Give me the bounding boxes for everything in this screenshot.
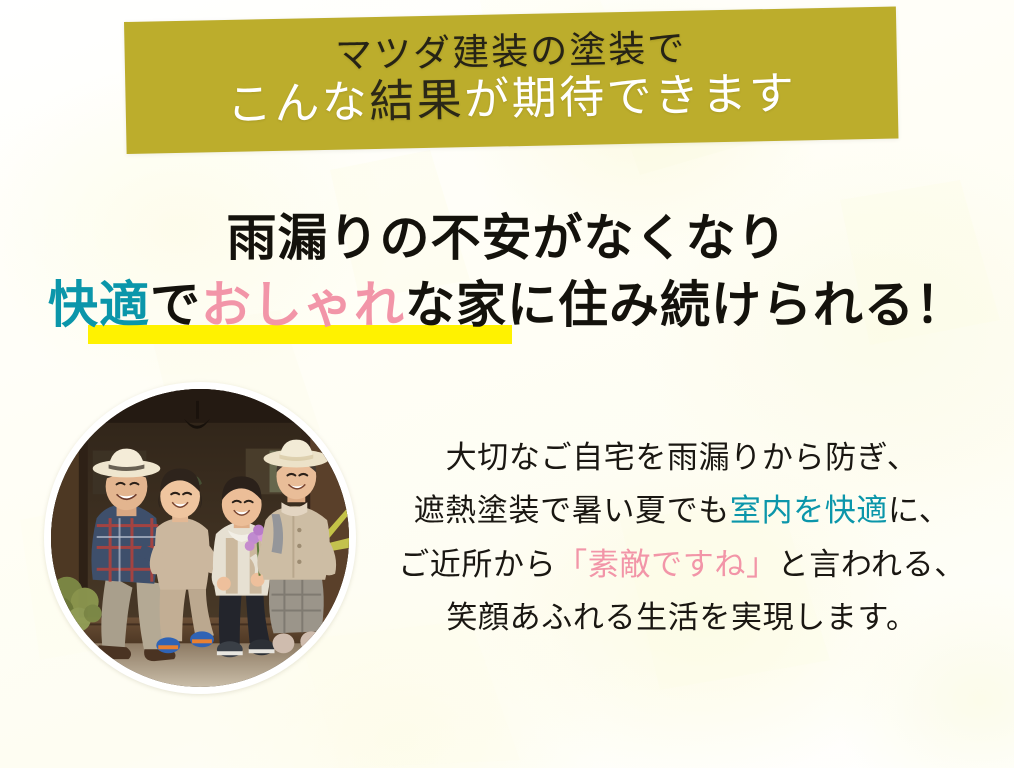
headline-line-1: 雨漏りの不安がなくなり: [0, 208, 1014, 269]
headline-line-2: 快適でおしゃれな家に住み続けられる！: [48, 275, 966, 336]
ribbon-line-2-emphasis: 結果: [369, 74, 465, 129]
photo-frame: [44, 382, 356, 694]
header-ribbon-text: マツダ建装の塗装で こんな結果が期待できます: [124, 5, 898, 152]
family-porch-illustration: [51, 389, 349, 687]
ribbon-line-2-part-a: こんな: [226, 75, 369, 131]
headline-line-2-joiner: で: [150, 276, 201, 334]
body-copy-line-4: 笑顔あふれる生活を実現します。: [386, 592, 978, 645]
body-copy: 大切なご自宅を雨漏りから防ぎ、 遮熱塗装で暑い夏でも室内を快適に、 ご近所から「…: [386, 432, 978, 645]
ribbon-line-2: こんな結果が期待できます: [226, 71, 797, 129]
body-copy-accent-quote: 「素敵ですね」: [556, 547, 777, 583]
family-porch-photo: [51, 389, 349, 687]
body-copy-line-2-part-c: に、: [888, 493, 950, 529]
page-title: 雨漏りの不安がなくなり 快適でおしゃれな家に住み続けられる！: [0, 208, 1014, 336]
headline-accent-stylish: おしゃれ: [201, 276, 405, 334]
headline-line-2-tail: な家に住み続けられる！: [405, 276, 966, 334]
ribbon-line-2-part-c: が期待できます: [464, 67, 797, 127]
body-copy-line-2: 遮熱塗装で暑い夏でも室内を快適に、: [386, 485, 978, 538]
ribbon-line-1: マツダ建装の塗装で: [335, 30, 687, 76]
body-copy-line-1: 大切なご自宅を雨漏りから防ぎ、: [386, 432, 978, 485]
body-copy-line-3-part-a: ご近所から: [398, 547, 556, 583]
headline-accent-comfort: 快適: [48, 276, 150, 334]
body-copy-line-2-part-a: 遮熱塗装で暑い夏でも: [414, 493, 730, 529]
body-copy-line-3: ご近所から「素敵ですね」と言われる、: [386, 539, 978, 592]
body-copy-line-3-part-c: と言われる、: [778, 547, 966, 583]
body-copy-accent-indoor-comfort: 室内を快適: [730, 493, 888, 529]
